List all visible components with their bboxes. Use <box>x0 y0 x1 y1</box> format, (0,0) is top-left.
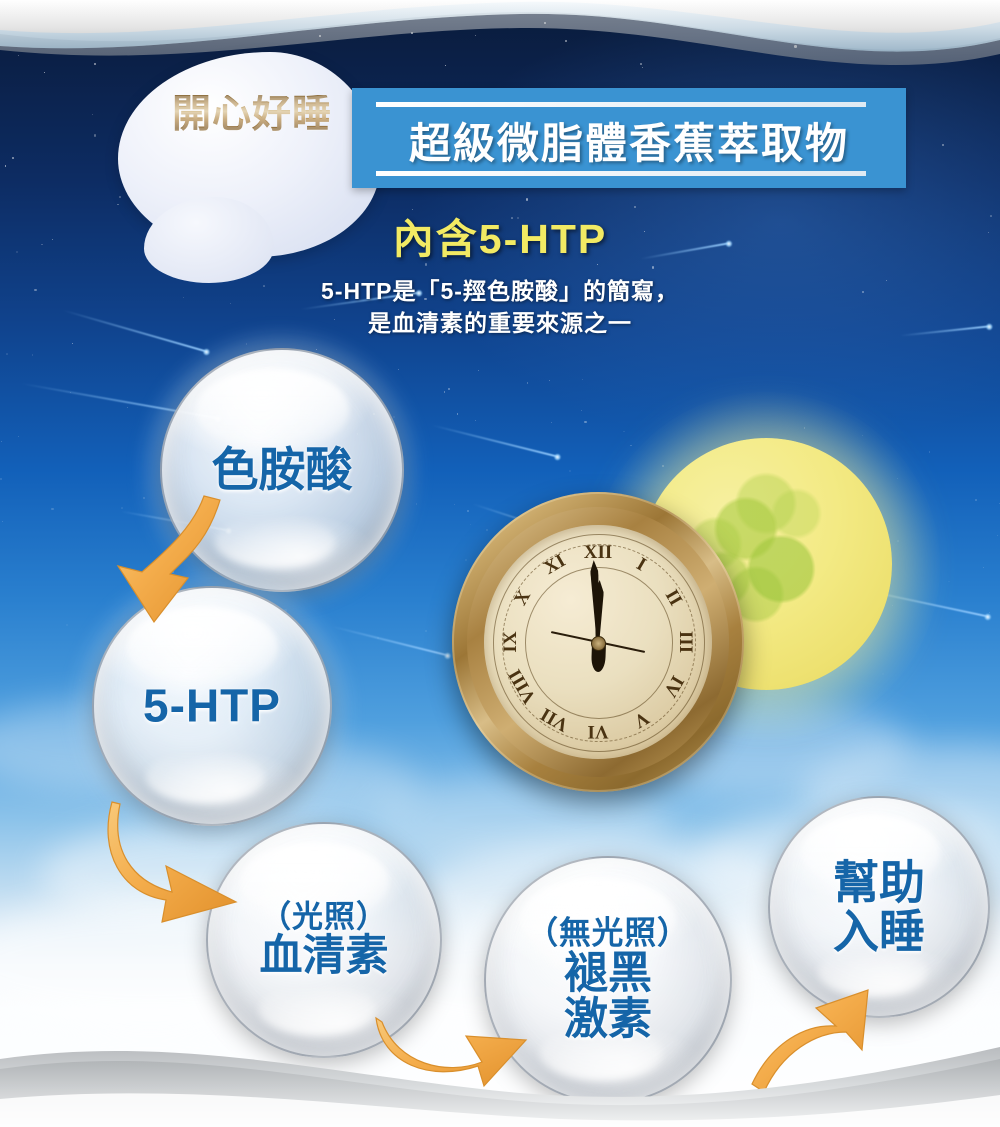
star <box>444 391 446 393</box>
star <box>66 624 68 626</box>
bubble-sheen <box>196 369 350 451</box>
bubble-label-tryptophan: 色胺酸 <box>162 445 402 495</box>
star <box>584 421 586 423</box>
star <box>569 470 571 472</box>
poster-root: 開心好睡 超級微脂體香蕉萃取物 內含5-HTP 5-HTP是「5-羥色胺酸」的簡… <box>0 0 1000 1127</box>
bubble-label-sleep-aid: 幫助入睡 <box>770 858 988 956</box>
banner-bar: 超級微脂體香蕉萃取物 <box>352 88 906 188</box>
star <box>549 380 551 382</box>
star <box>18 436 20 438</box>
star <box>457 413 459 415</box>
star <box>32 354 34 356</box>
star <box>448 388 450 390</box>
banner-title: 超級微脂體香蕉萃取物 <box>352 110 906 171</box>
header: 開心好睡 超級微脂體香蕉萃取物 內含5-HTP 5-HTP是「5-羥色胺酸」的簡… <box>0 0 1000 300</box>
clock-center-pin <box>591 636 606 651</box>
star <box>478 370 479 371</box>
bubble-label-serotonin: （光照） 血清素 <box>208 901 440 979</box>
star <box>997 535 998 536</box>
star <box>72 343 73 344</box>
bubble-prefix-melatonin: （無光照） <box>486 917 730 951</box>
star <box>975 499 977 501</box>
clock-numeral: III <box>674 631 696 653</box>
star <box>0 478 2 480</box>
star <box>581 410 582 411</box>
star <box>127 407 128 408</box>
clock-numeral: IX <box>500 631 522 652</box>
star <box>1 441 2 442</box>
bubble-text-sleep-aid: 幫助入睡 <box>833 856 925 957</box>
star <box>527 382 529 384</box>
star <box>551 422 552 423</box>
vintage-clock-icon: IIIIIIIVVVIVIIVIIIIXXXIXII <box>452 492 744 792</box>
clock-face: IIIIIIIVVVIVIIVIIIIXXXIXII <box>484 525 712 759</box>
star <box>6 353 8 355</box>
arrow-tryptophan-to-5htp-icon <box>96 482 236 632</box>
banner-rule-bottom <box>376 171 866 176</box>
star <box>630 445 631 446</box>
star <box>51 508 53 510</box>
brand-badge-label: 開心好睡 <box>152 95 352 134</box>
star <box>582 379 583 380</box>
clock-numeral: VI <box>587 720 608 742</box>
star <box>425 630 427 632</box>
star <box>948 581 949 582</box>
bubble-text-melatonin: 褪黑激素 <box>564 948 652 1044</box>
subtext-line-1: 5-HTP是「5-羥色胺酸」的簡寫， <box>321 278 679 304</box>
subtext-line-2: 是血清素的重要來源之一 <box>368 310 632 336</box>
star <box>623 431 624 432</box>
banner-rule-top <box>376 102 866 107</box>
star <box>2 521 3 522</box>
bubble-text-serotonin: 血清素 <box>260 932 389 980</box>
bubble-prefix-serotonin: （光照） <box>208 901 440 934</box>
star <box>398 369 399 370</box>
star <box>475 420 476 421</box>
bubble-label-five-htp: 5-HTP <box>94 682 330 731</box>
bubble-label-melatonin: （無光照） 褪黑激素 <box>486 917 730 1044</box>
subtext-description: 5-HTP是「5-羥色胺酸」的簡寫， 是血清素的重要來源之一 <box>0 276 1000 339</box>
star <box>983 567 984 568</box>
star <box>443 683 445 685</box>
subhead-5htp: 內含5-HTP <box>0 205 1000 265</box>
star <box>929 451 931 453</box>
clock-numeral: XII <box>584 542 613 564</box>
